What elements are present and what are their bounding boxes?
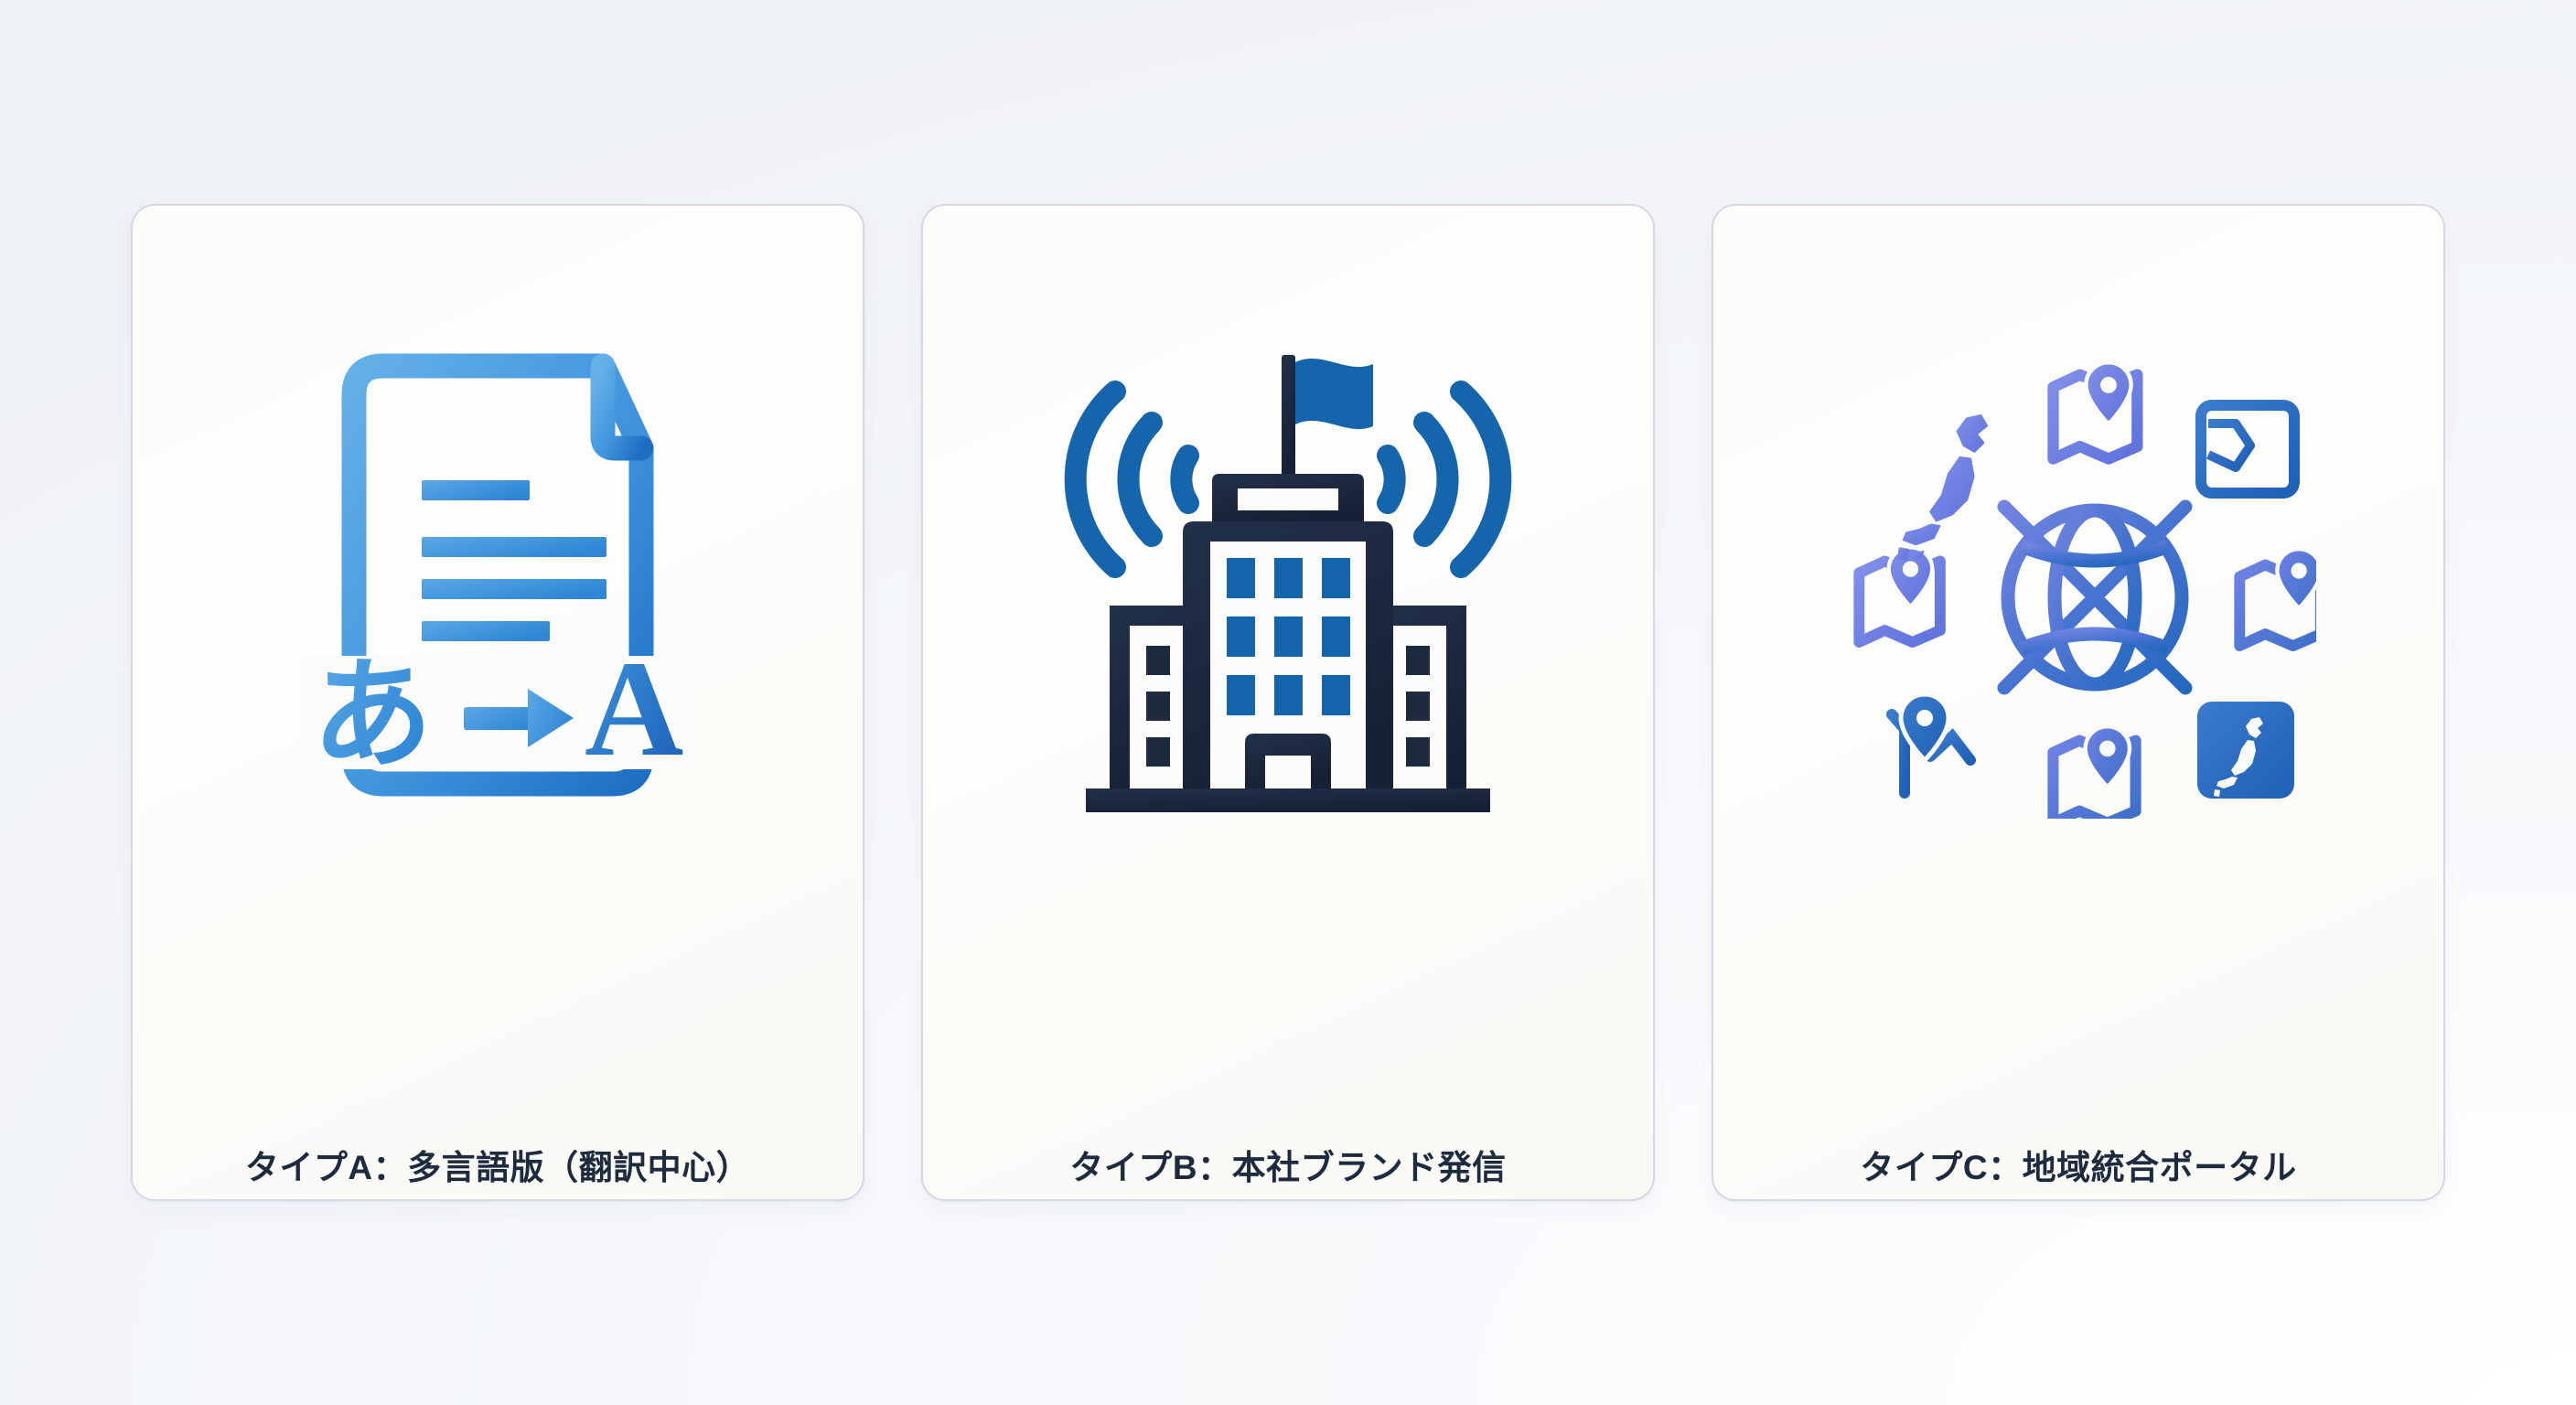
folded-map-bottom (2053, 726, 2135, 819)
hiragana-a-glyph: あ (312, 645, 433, 786)
card-label-type-a: タイプA：多言語版（翻訳中心） (133, 1148, 863, 1188)
card-label-type-b: タイプB：本社ブランド発信 (923, 1148, 1653, 1188)
tower-top (1212, 474, 1364, 521)
card-type-b[interactable]: タイプB：本社ブランド発信 (921, 204, 1655, 1201)
folded-map-left (1859, 547, 1940, 642)
headquarters-broadcast-icon (923, 206, 1653, 901)
entrance-door (1245, 734, 1331, 788)
regional-portal-globe-icon (1713, 206, 2443, 901)
japan-app-tile-icon (2197, 702, 2294, 799)
document-translate-icon: あ A (133, 206, 863, 901)
street-map-pin-icon (1892, 694, 1981, 793)
building-base (1086, 788, 1490, 812)
main-building (1183, 521, 1393, 788)
card-type-c[interactable]: タイプC：地域統合ポータル (1712, 204, 2445, 1201)
card-label-type-c: タイプC：地域統合ポータル (1713, 1148, 2443, 1188)
broadcast-waves-right (1388, 391, 1500, 567)
folded-map-top (2053, 362, 2137, 458)
latin-a-glyph: A (585, 633, 683, 785)
flag-icon (1282, 355, 1373, 479)
building-windows (1227, 558, 1350, 715)
text-lines (422, 480, 606, 641)
grid-map-square-icon (2201, 405, 2294, 493)
card-board: あ A タイプA：多言語版（翻訳中心） (0, 0, 2576, 1405)
folded-map-right (2239, 549, 2316, 646)
card-type-a[interactable]: あ A タイプA：多言語版（翻訳中心） (131, 204, 864, 1201)
broadcast-waves-left (1076, 391, 1188, 567)
japan-silhouette-icon (1897, 414, 1988, 561)
